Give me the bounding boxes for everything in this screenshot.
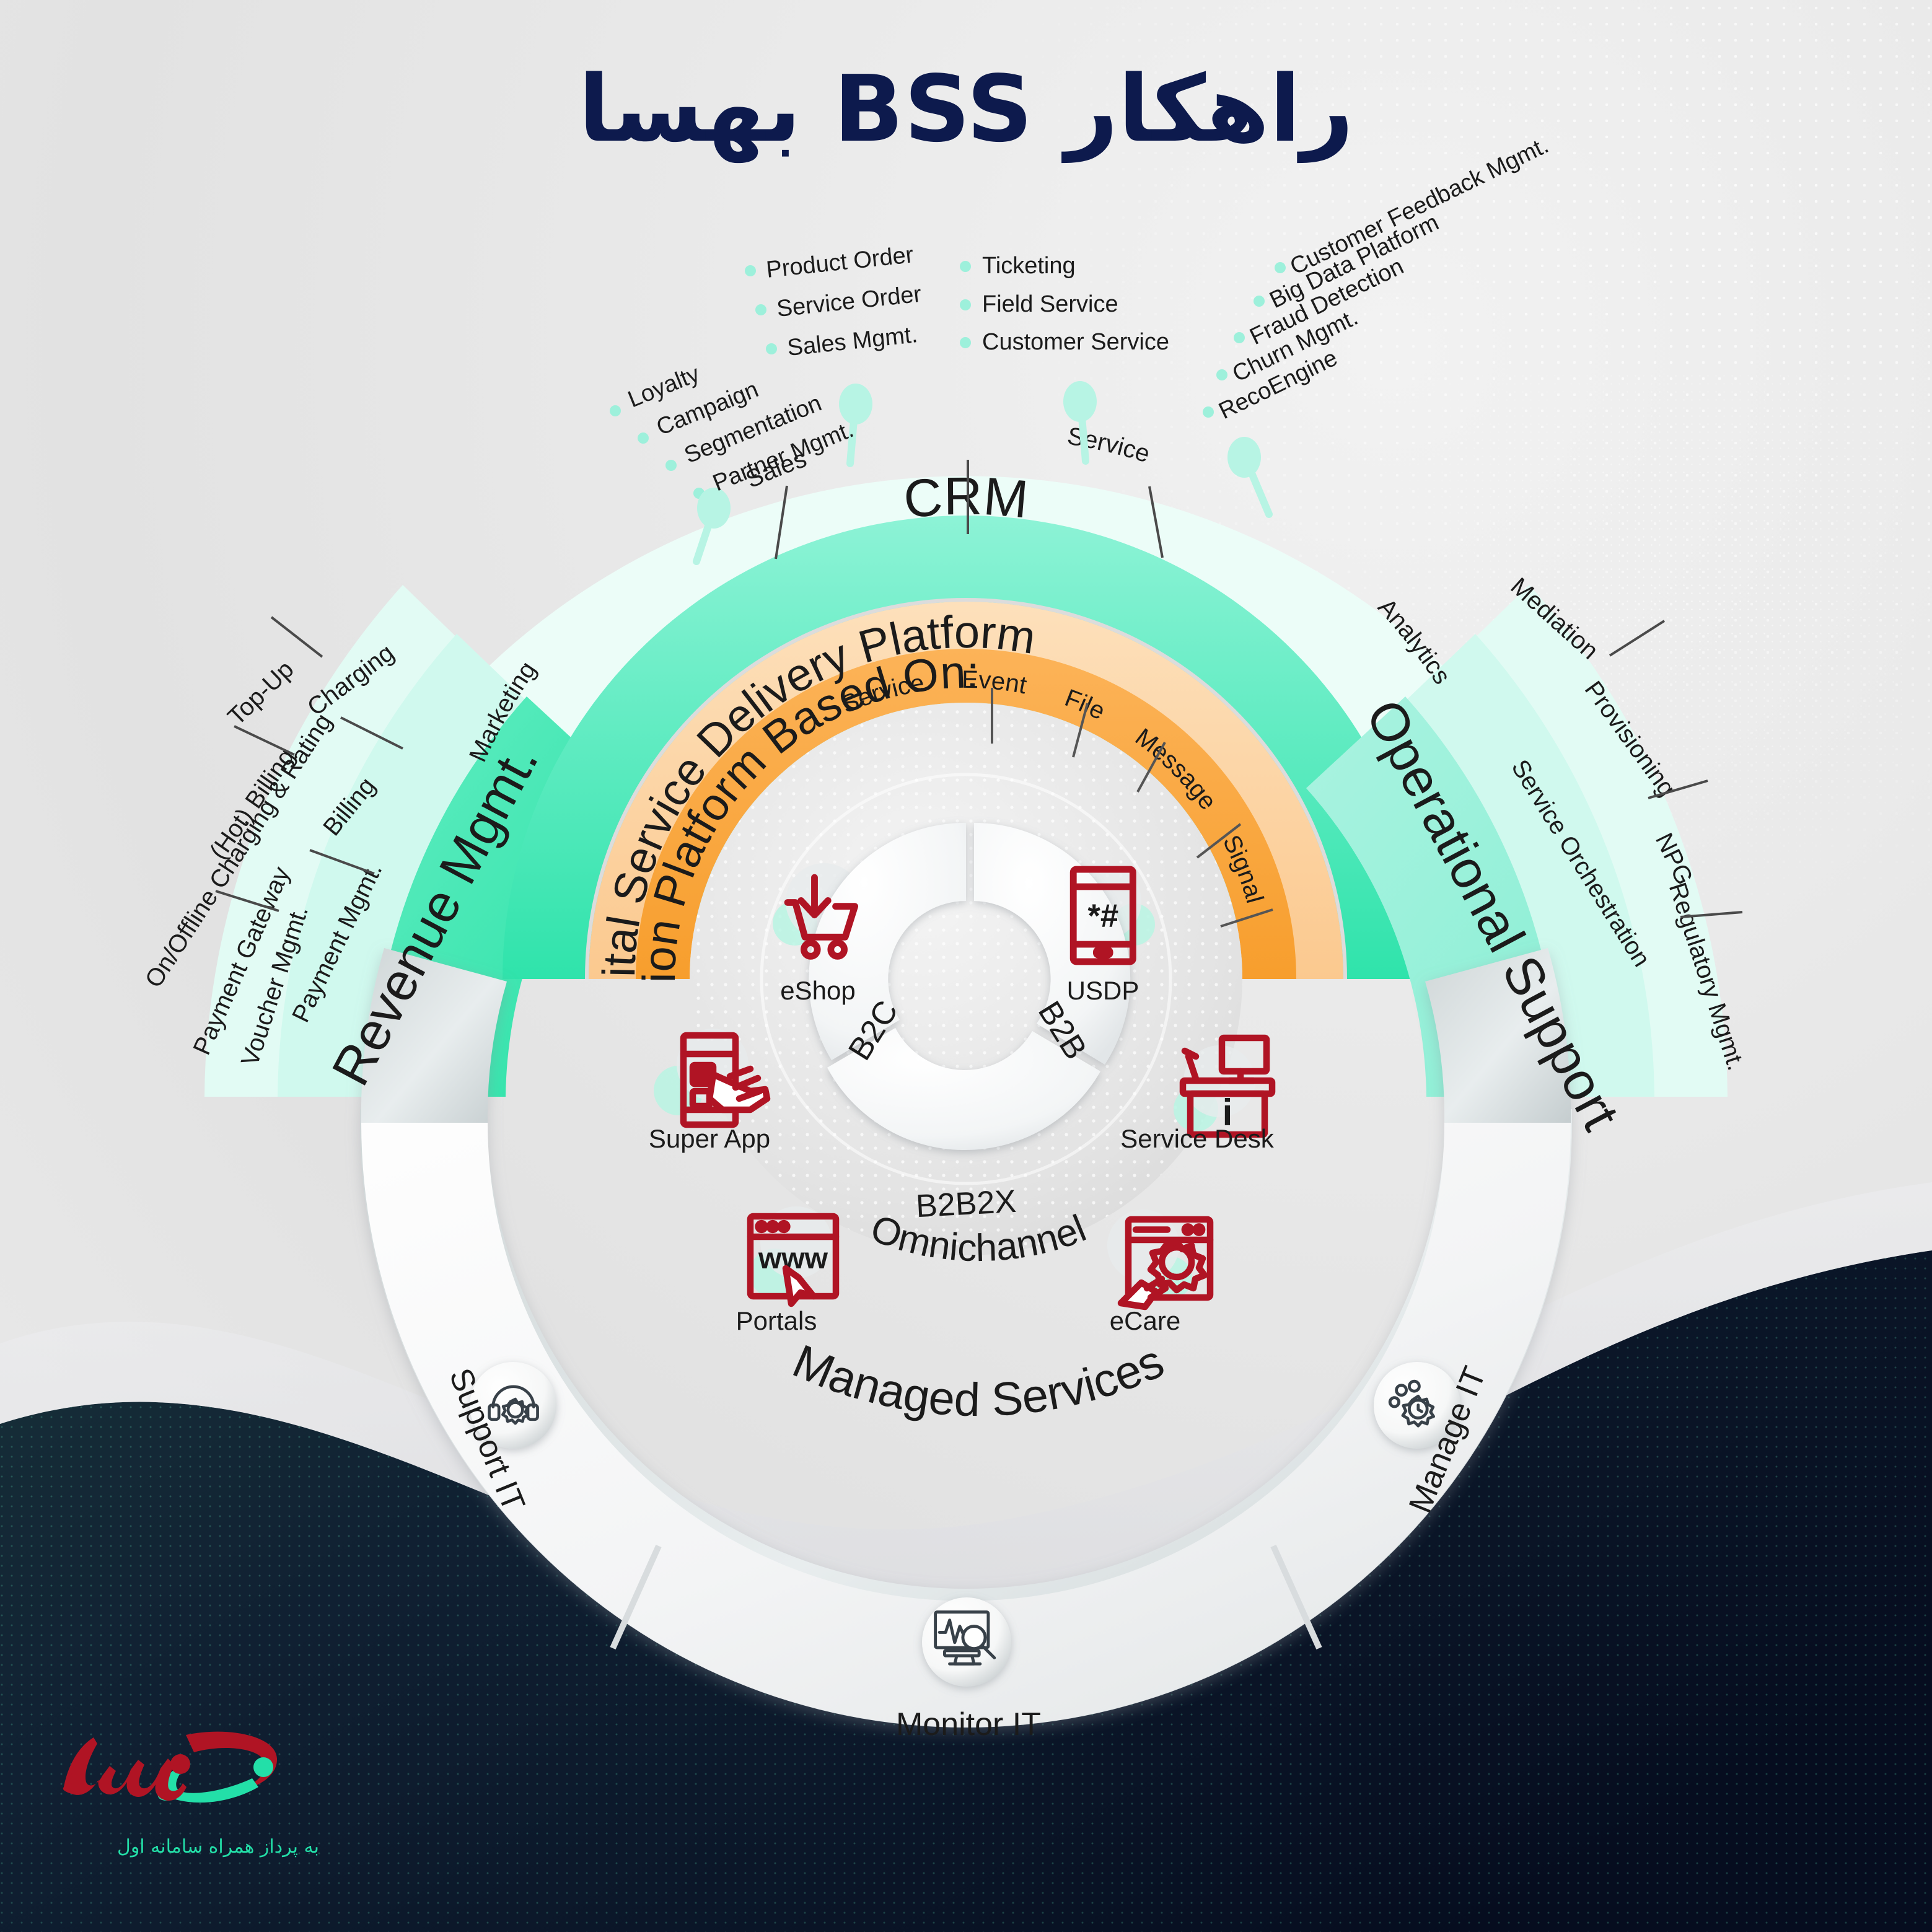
leader-service-order: Service Order <box>776 281 923 322</box>
leader-product-order: Product Order <box>765 242 915 283</box>
usdp-label: USDP <box>1067 976 1139 1005</box>
managed-services-label: Managed Services <box>786 1335 1172 1426</box>
monitor-it-badge[interactable] <box>922 1597 1011 1687</box>
eshop-label: eShop <box>780 976 855 1005</box>
logo-tagline: به پرداز همراه سامانه اول <box>59 1836 319 1858</box>
bss-radial-diagram: CRM Marketing Sales Service Analytics Re… <box>0 0 1932 1932</box>
crm-seg-label: Service <box>1065 422 1153 468</box>
leader-sales-mgmt: Sales Mgmt. <box>786 322 919 361</box>
revenue-outer-topup: Top-Up <box>222 656 299 731</box>
crm-ring-title: CRM <box>901 467 1030 530</box>
leader-labels-marketing: Loyalty Campaign Segmentation Partner Mg… <box>625 361 858 496</box>
leader-labels-service: Ticketing Field Service Customer Service <box>982 253 1169 355</box>
leader-labels-sales: Product Order Service Order Sales Mgmt. <box>765 242 923 361</box>
infographic-canvas: CRM Marketing Sales Service Analytics Re… <box>0 0 1932 1932</box>
core-disc <box>690 703 1242 1255</box>
crm-segment-service[interactable]: Service <box>1065 422 1153 468</box>
hub-label-b2b2x: B2B2X <box>915 1183 1017 1224</box>
company-logo: به پرداز همراه سامانه اول <box>59 1730 319 1858</box>
portals-label: Portals <box>736 1306 817 1335</box>
super-app-label: Super App <box>649 1124 770 1153</box>
leader-labels-analytics: Customer Feedback Mgmt. Big Data Platfor… <box>1215 132 1553 424</box>
logo-mark <box>59 1730 319 1829</box>
svg-text:*#: *# <box>1087 898 1118 934</box>
leader-field-service: Field Service <box>982 291 1118 317</box>
page-title: راهکار BSS بهسا <box>0 56 1932 162</box>
managed-services-title-text: Managed Services <box>786 1335 1172 1426</box>
monitor-it-label: Monitor IT <box>896 1706 1041 1742</box>
leader-customer-service: Customer Service <box>982 329 1169 355</box>
ecare-label: eCare <box>1110 1306 1180 1335</box>
leader-ticketing: Ticketing <box>982 253 1076 279</box>
crm-title-text: CRM <box>901 467 1030 530</box>
service-desk-label: Service Desk <box>1120 1124 1274 1153</box>
